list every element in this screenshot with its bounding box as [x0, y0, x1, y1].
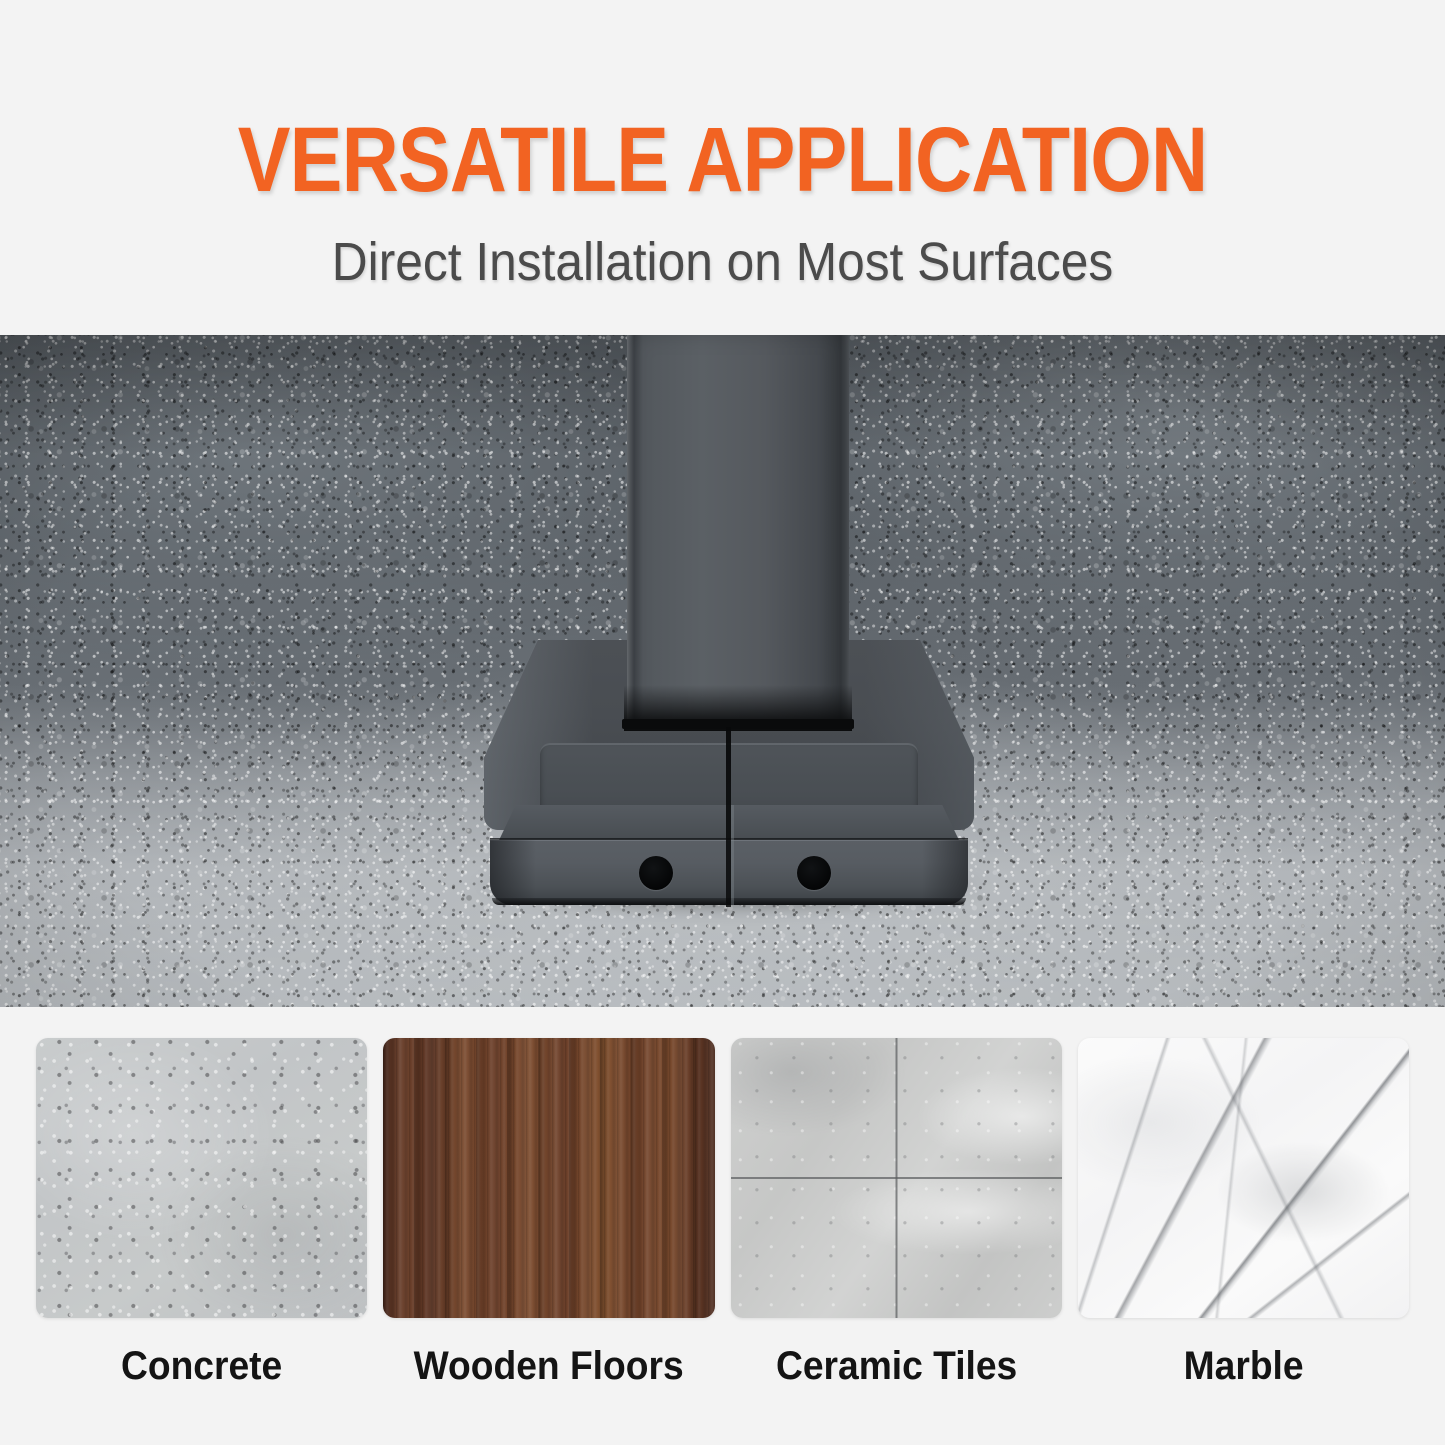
hero-product-photo — [0, 335, 1445, 1007]
post-base-product — [0, 335, 1445, 1007]
bolt-hole-right — [797, 856, 831, 890]
bolt-hole-left — [639, 856, 673, 890]
page-subtitle: Direct Installation on Most Surfaces — [58, 232, 1387, 292]
wooden-floor-swatch — [383, 1038, 714, 1318]
concrete-swatch — [36, 1038, 367, 1318]
marble-swatch — [1078, 1038, 1409, 1318]
swatch-label-marble: Marble — [1089, 1343, 1397, 1389]
square-post — [627, 335, 849, 722]
base-center-seam-highlight — [731, 805, 734, 905]
swatch-label-ceramic-tiles: Ceramic Tiles — [742, 1343, 1050, 1389]
ceramic-tile-swatch — [731, 1038, 1062, 1318]
post-base-gap — [622, 719, 854, 729]
post-right-edge-highlight — [841, 335, 849, 722]
skirt-right-corner-shade — [922, 840, 968, 905]
swatch-row — [36, 1038, 1409, 1318]
product-feature-page: VERSATILE APPLICATION Direct Installatio… — [0, 0, 1445, 1445]
skirt-left-corner-shade — [490, 840, 536, 905]
post-left-edge-highlight — [627, 335, 634, 722]
swatch-label-wooden-floors: Wooden Floors — [395, 1343, 703, 1389]
page-title: VERSATILE APPLICATION — [101, 112, 1344, 208]
header-banner: VERSATILE APPLICATION Direct Installatio… — [0, 0, 1445, 335]
surface-swatch-strip: Concrete Wooden Floors Ceramic Tiles Mar… — [0, 1007, 1445, 1445]
swatch-label-concrete: Concrete — [48, 1343, 356, 1389]
swatch-label-row: Concrete Wooden Floors Ceramic Tiles Mar… — [36, 1343, 1409, 1389]
